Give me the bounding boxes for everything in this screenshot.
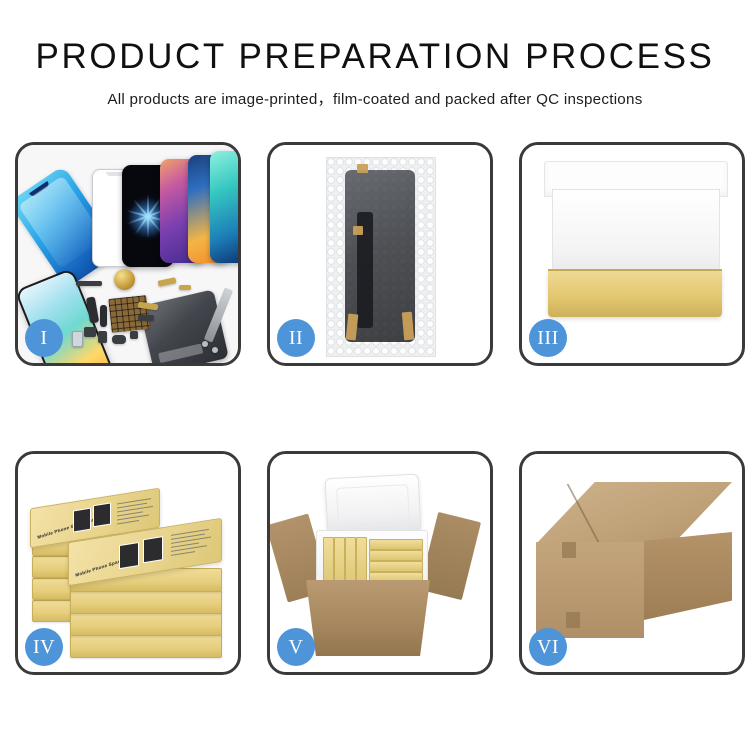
- spare-part-icon: [84, 327, 96, 337]
- tape-icon: [357, 164, 368, 173]
- carton-tape-icon: [562, 542, 576, 558]
- spare-part-icon: [76, 281, 102, 286]
- teal-phone-icon: [210, 151, 238, 263]
- page-subtitle: All products are image-printed，film-coat…: [0, 87, 750, 109]
- process-step-grid: I II: [15, 142, 745, 675]
- step-number-badge-2: II: [277, 319, 315, 357]
- spare-part-icon: [112, 335, 126, 344]
- screw-grid-icon: [108, 295, 149, 333]
- step-number-badge-1: I: [25, 319, 63, 357]
- carton-tape-icon: [566, 612, 580, 628]
- yellow-box-body-icon: [548, 271, 722, 317]
- spare-part-icon: [130, 331, 138, 339]
- screw-icon: [212, 347, 218, 353]
- step-number-badge-5: V: [277, 628, 315, 666]
- foam-lid-icon: [325, 474, 422, 537]
- step-number-badge-3: III: [529, 319, 567, 357]
- white-foam-liner-icon: [552, 189, 720, 277]
- process-step-panel-4: Mobile Phone Spare Parts Mobile Phone Sp…: [15, 451, 241, 675]
- process-step-panel-2: II: [267, 142, 493, 366]
- process-step-panel-5: V: [267, 451, 493, 675]
- carton-body-icon: [306, 580, 430, 656]
- header: PRODUCT PREPARATION PROCESS All products…: [0, 0, 750, 109]
- process-step-panel-1: I: [15, 142, 241, 366]
- screw-icon: [202, 341, 208, 347]
- step-number-badge-4: IV: [25, 628, 63, 666]
- spare-part-icon: [72, 331, 83, 347]
- process-step-panel-6: VI: [519, 451, 745, 675]
- product-preparation-infographic: PRODUCT PREPARATION PROCESS All products…: [0, 0, 750, 750]
- gold-coil-icon: [114, 269, 135, 290]
- carton-front-face-icon: [536, 542, 644, 638]
- spare-part-icon: [179, 285, 191, 290]
- process-step-panel-3: III: [519, 142, 745, 366]
- spare-part-icon: [100, 305, 107, 327]
- page-title: PRODUCT PREPARATION PROCESS: [0, 38, 750, 76]
- step-number-badge-6: VI: [529, 628, 567, 666]
- spare-part-icon: [138, 315, 154, 321]
- tape-icon: [353, 226, 363, 235]
- bubble-wrap-bag-icon: [326, 157, 436, 357]
- spare-part-icon: [98, 331, 107, 343]
